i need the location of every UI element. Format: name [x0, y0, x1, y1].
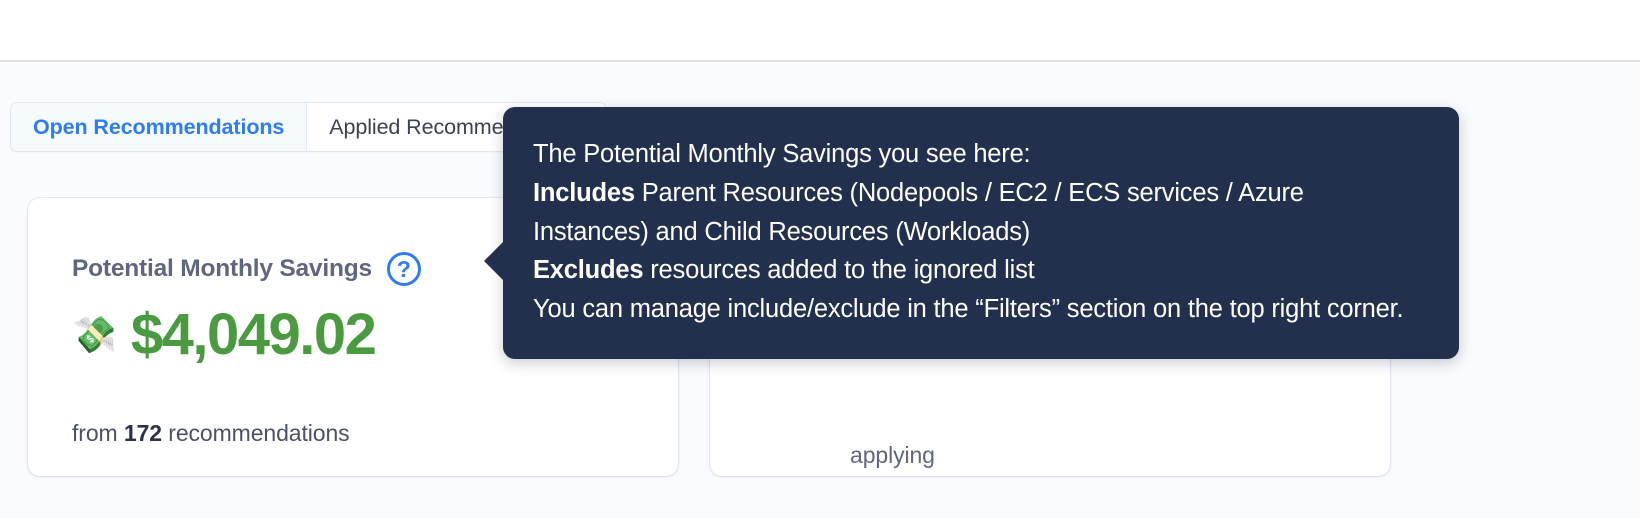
- savings-amount: $4,049.02: [131, 306, 376, 364]
- tooltip-excludes-text: resources added to the ignored list: [643, 256, 1034, 284]
- question-mark-icon[interactable]: ?: [387, 252, 421, 286]
- secondary-card-obscured-text: applying: [850, 442, 935, 469]
- page-title: Potential Monthly Savings: [72, 255, 372, 283]
- tooltip-line-3: Excludes resources added to the ignored …: [533, 251, 1425, 290]
- money-banknotes-icon: 💸: [72, 317, 117, 353]
- tooltip-line-2: Includes Parent Resources (Nodepools / E…: [533, 174, 1425, 252]
- recommendations-count: 172: [124, 420, 162, 446]
- count-prefix: from: [72, 420, 124, 446]
- tooltip-includes-label: Includes: [533, 179, 635, 207]
- tab-open-recommendations[interactable]: Open Recommendations: [11, 103, 307, 151]
- tooltip-line-1: The Potential Monthly Savings you see he…: [533, 135, 1425, 174]
- app-header: [0, 0, 1640, 62]
- savings-help-tooltip: The Potential Monthly Savings you see he…: [503, 107, 1459, 359]
- tooltip-line-4: You can manage include/exclude in the “F…: [533, 290, 1425, 329]
- savings-amount-row: 💸 $4,049.02: [72, 306, 375, 364]
- card-title-row: Potential Monthly Savings ?: [72, 252, 421, 286]
- count-suffix: recommendations: [162, 420, 350, 446]
- recommendations-count-line: from 172 recommendations: [72, 420, 350, 447]
- tooltip-includes-text: Parent Resources (Nodepools / EC2 / ECS …: [533, 179, 1304, 246]
- tooltip-arrow-icon: [484, 241, 504, 281]
- tooltip-excludes-label: Excludes: [533, 256, 643, 284]
